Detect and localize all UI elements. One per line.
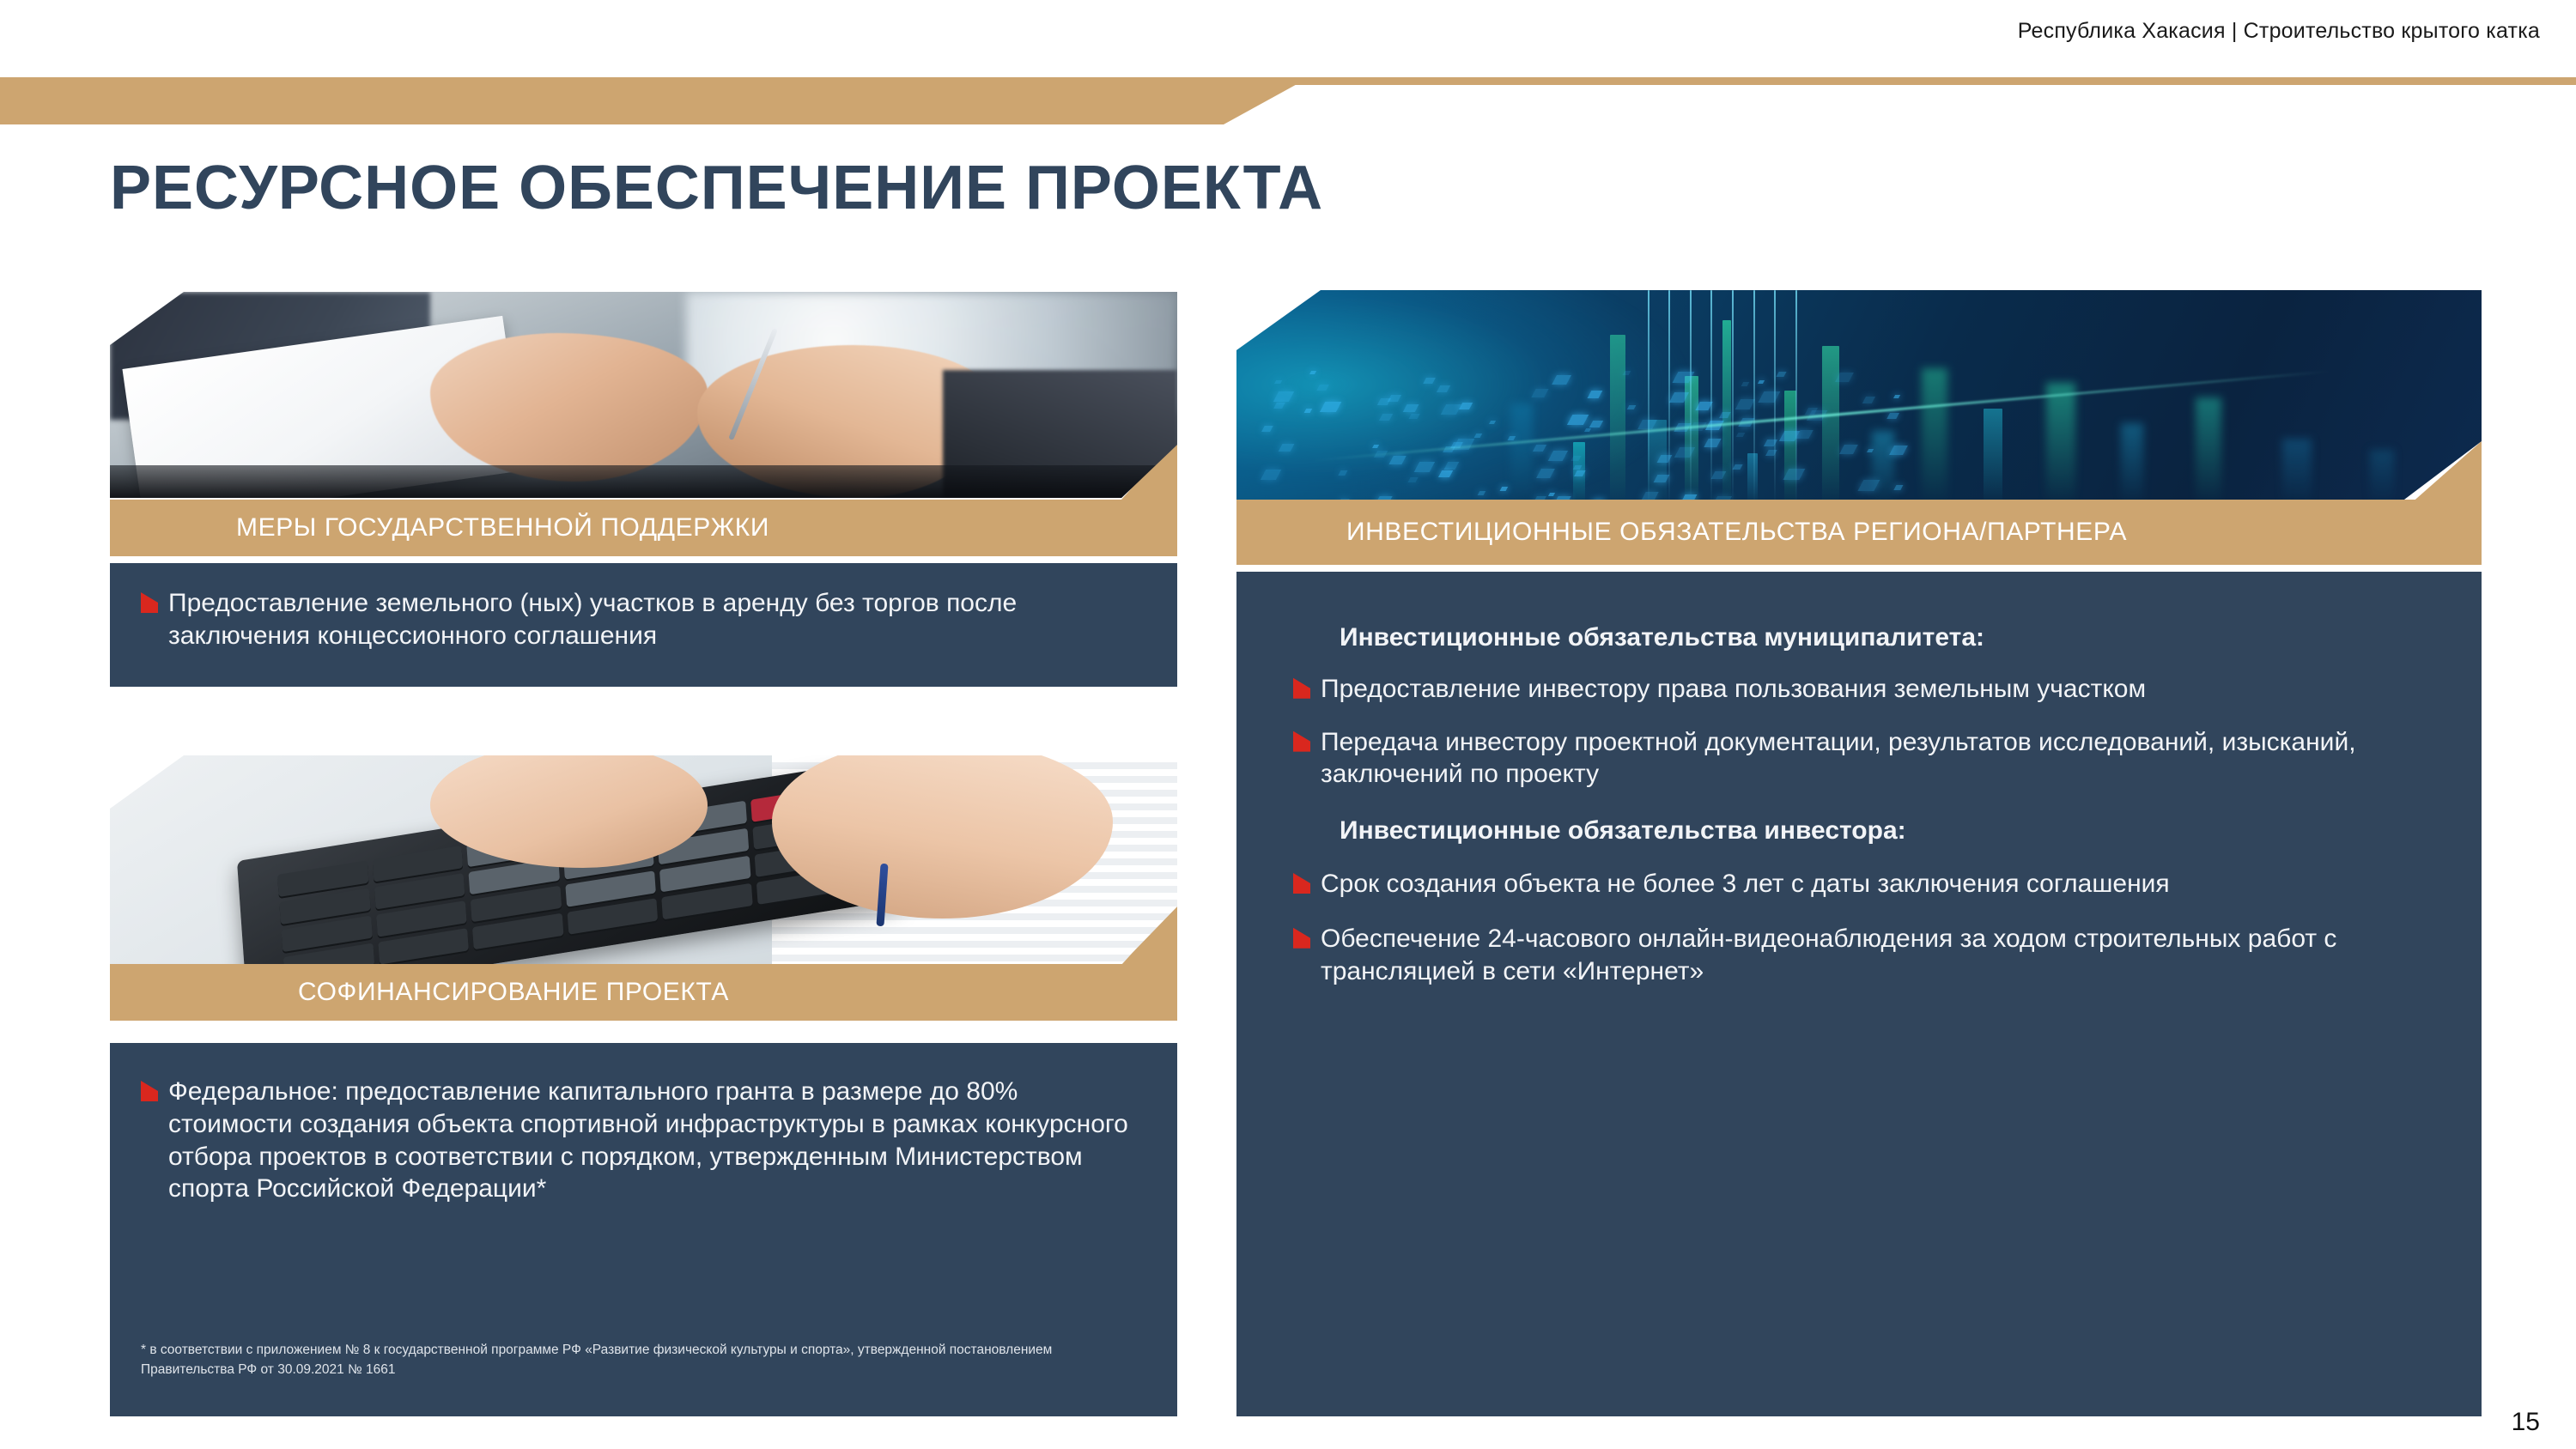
card-oblig-band-label: ИНВЕСТИЦИОННЫЕ ОБЯЗАТЕЛЬСТВА РЕГИОНА/ПАР… bbox=[1346, 518, 2127, 547]
card-oblig-heading-1: Инвестиционные обязательства инвестора: bbox=[1340, 815, 2447, 847]
card-support-band-label: МЕРЫ ГОСУДАРСТВЕННОЙ ПОДДЕРЖКИ bbox=[236, 513, 769, 543]
photo-contract-signing bbox=[110, 292, 1177, 498]
card-support-bullet-0: Предоставление земельного (ных) участков… bbox=[141, 587, 1139, 652]
card-cofin-footnote: * в соответствии с приложением № 8 к гос… bbox=[141, 1340, 1146, 1380]
header-gold-banner bbox=[0, 77, 1309, 124]
card-cofin-band-label: СОФИНАНСИРОВАНИЕ ПРОЕКТА bbox=[298, 978, 729, 1007]
card-support-body: Предоставление земельного (ных) участков… bbox=[110, 563, 1177, 687]
page-title: РЕСУРСНОЕ ОБЕСПЕЧЕНИЕ ПРОЕКТА bbox=[110, 153, 1323, 223]
photo-digital-bar-chart bbox=[1236, 290, 2482, 505]
card-oblig-b1-bullet-1: Обеспечение 24-часового онлайн-видеонабл… bbox=[1293, 923, 2430, 988]
page-number: 15 bbox=[2512, 1408, 2540, 1437]
card-oblig-heading-0: Инвестиционные обязательства муниципалит… bbox=[1340, 621, 2447, 654]
card-support-band: МЕРЫ ГОСУДАРСТВЕННОЙ ПОДДЕРЖКИ bbox=[110, 500, 1177, 556]
card-oblig-band: ИНВЕСТИЦИОННЫЕ ОБЯЗАТЕЛЬСТВА РЕГИОНА/ПАР… bbox=[1236, 500, 2482, 565]
card-cofin-body: Федеральное: предоставление капитального… bbox=[110, 1043, 1177, 1416]
card-cofin-band: СОФИНАНСИРОВАНИЕ ПРОЕКТА bbox=[110, 964, 1177, 1021]
card-oblig-b1-bullet-0: Срок создания объекта не более 3 лет с д… bbox=[1293, 868, 2430, 900]
photo-calculator-hands bbox=[110, 755, 1177, 964]
breadcrumb: Республика Хакасия | Строительство крыто… bbox=[2018, 19, 2540, 44]
card-oblig-body: Инвестиционные обязательства муниципалит… bbox=[1236, 572, 2482, 1416]
card-cofin-bullet-0: Федеральное: предоставление капитального… bbox=[141, 1076, 1133, 1205]
card-oblig-b0-bullet-1: Передача инвестору проектной документаци… bbox=[1293, 726, 2430, 791]
card-oblig-b0-bullet-0: Предоставление инвестору права пользован… bbox=[1293, 673, 2430, 706]
